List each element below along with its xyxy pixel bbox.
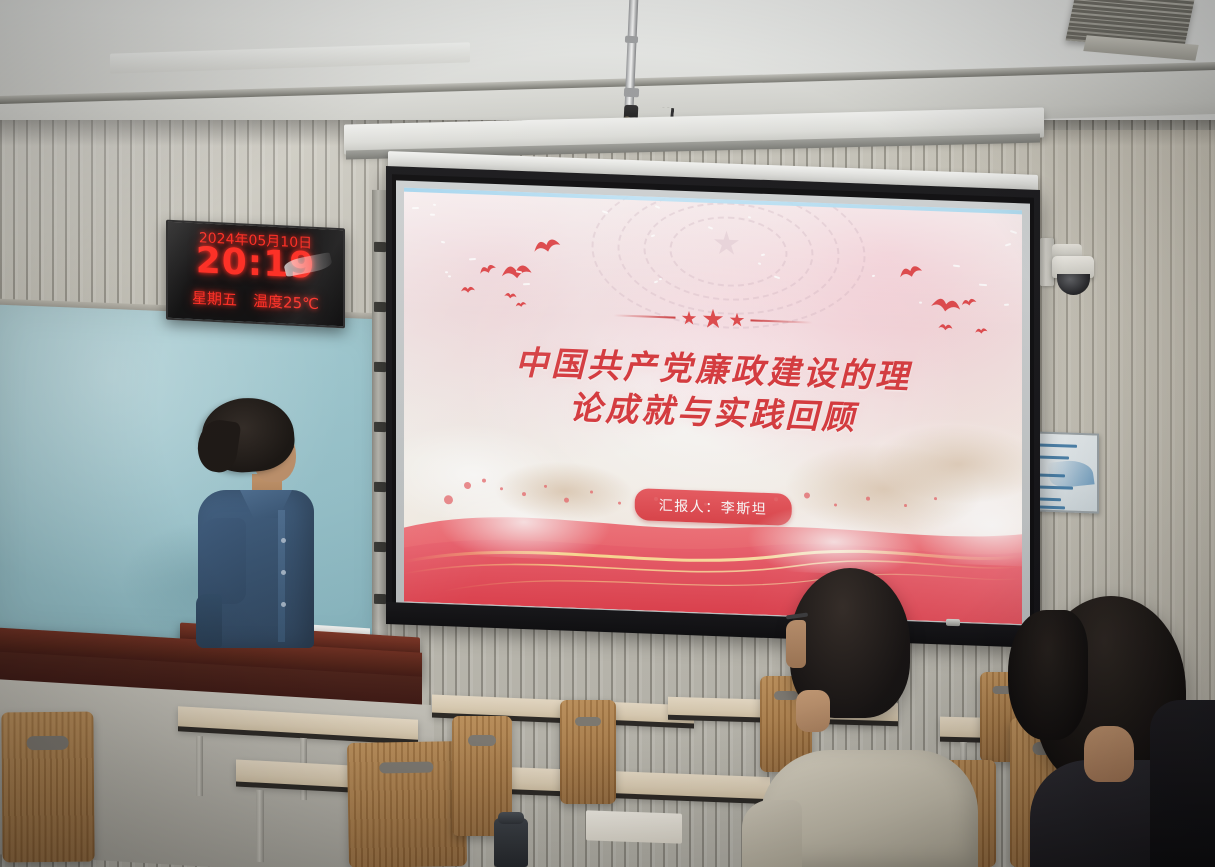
bottle-cap xyxy=(498,812,524,824)
sparkle xyxy=(448,275,451,277)
chair-handle-cutout xyxy=(774,691,798,700)
chair-grain xyxy=(1,712,94,863)
presenter-button-2 xyxy=(281,570,286,575)
star-icon-1 xyxy=(682,311,697,327)
stars-rule-right xyxy=(751,320,813,324)
chair-handle-cutout xyxy=(379,762,433,774)
audience-2-neck xyxy=(1084,726,1134,782)
speck-3 xyxy=(500,487,503,490)
chair-handle-cutout xyxy=(575,717,601,726)
speck-11 xyxy=(704,503,707,506)
presenter-arm xyxy=(196,594,222,648)
speck-8 xyxy=(590,490,593,493)
rail-notch xyxy=(374,482,386,492)
rail-notch xyxy=(374,242,386,252)
chair-grain xyxy=(347,741,467,867)
desk-leg xyxy=(196,736,203,796)
audience-1-arm xyxy=(742,800,802,867)
sparkle xyxy=(758,262,762,265)
desk-leg xyxy=(256,790,264,862)
chair-front-left-2[interactable] xyxy=(347,741,467,867)
rail-notch xyxy=(374,422,386,432)
tan-cloud-2 xyxy=(874,421,1022,507)
star-icon-3 xyxy=(730,312,745,328)
rail-notch xyxy=(374,362,386,372)
bottle-object xyxy=(494,818,528,867)
sparkle xyxy=(979,283,987,286)
audience-3-body xyxy=(1150,700,1215,867)
paper-sheet xyxy=(586,810,682,843)
speck-12 xyxy=(774,497,778,501)
speck-5 xyxy=(522,492,526,496)
speck-6 xyxy=(544,485,547,488)
presentation-slide: 中国共产党廉政建设的理 论成就与实践回顾 汇报人：李斯坦 xyxy=(404,188,1022,625)
chair-grain xyxy=(560,700,616,804)
microphone-pipe-band-lower xyxy=(624,88,639,98)
audience-1-face-edge xyxy=(786,620,806,668)
speck-13 xyxy=(804,492,810,498)
dove-icon-10 xyxy=(938,319,954,330)
sparkle xyxy=(412,207,419,209)
chair-mid-center[interactable] xyxy=(560,700,616,804)
star-icon-2 xyxy=(703,308,724,330)
chair-handle-cutout xyxy=(27,736,69,750)
speck-10 xyxy=(654,497,658,501)
screen-pull-knob xyxy=(946,619,960,627)
sparkle xyxy=(872,274,876,277)
presenter-sleeve xyxy=(198,518,246,604)
audience-1-hand xyxy=(796,690,830,732)
dove-icon-4 xyxy=(460,282,476,292)
speck-7 xyxy=(564,498,569,503)
rail-notch xyxy=(374,594,386,604)
microphone-pipe-band xyxy=(625,36,638,44)
speck-17 xyxy=(934,497,937,500)
stars-rule-left xyxy=(614,315,676,319)
presenter-person xyxy=(196,398,316,648)
sparkle xyxy=(953,264,960,267)
speck-4 xyxy=(444,495,453,504)
audience-2-hair-side xyxy=(1008,610,1088,740)
dove-icon-6 xyxy=(513,295,526,304)
dove-icon-9 xyxy=(959,293,977,306)
speck-1 xyxy=(464,482,471,489)
presenter-button-1 xyxy=(281,538,286,543)
speck-9 xyxy=(618,502,621,505)
clock-glare xyxy=(168,222,343,327)
presenter-placket xyxy=(278,510,285,642)
classroom-photo: 2024年05月10日 20:19 星期五 温度25℃ 中国共产党廉政建设的理 xyxy=(0,0,1215,867)
chair-handle-cutout xyxy=(468,735,496,746)
tan-cloud-3 xyxy=(494,459,634,524)
presenter-button-3 xyxy=(281,602,286,607)
rail-notch xyxy=(374,302,386,312)
dove-icon-11 xyxy=(974,322,988,332)
speck-2 xyxy=(482,479,486,483)
chair-front-left[interactable] xyxy=(1,712,94,863)
led-clock: 2024年05月10日 20:19 星期五 温度25℃ xyxy=(166,220,345,329)
speck-16 xyxy=(904,504,907,507)
rail-notch xyxy=(374,542,386,552)
speck-15 xyxy=(866,497,870,501)
speck-14 xyxy=(834,503,837,506)
